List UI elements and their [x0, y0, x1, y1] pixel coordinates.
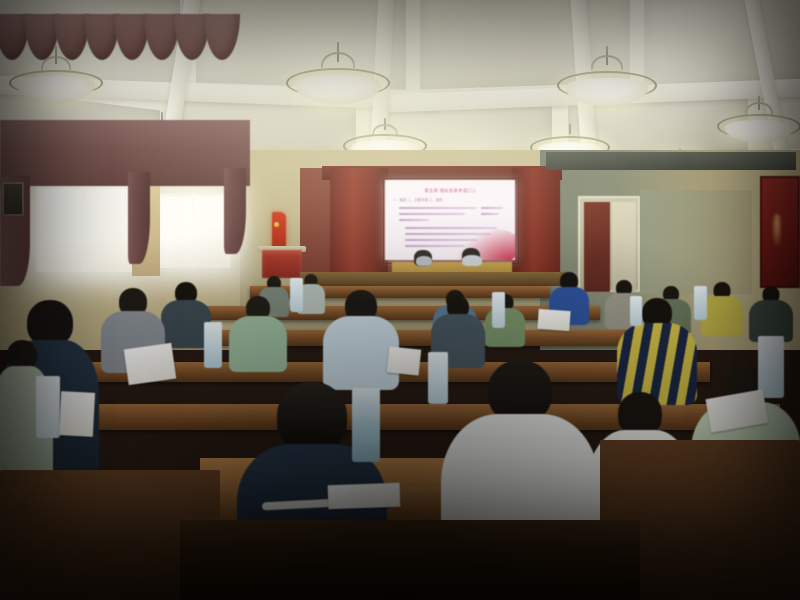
handout-3 — [387, 346, 422, 375]
attendee-centre-seated-b — [484, 294, 526, 346]
water-bottle-8 — [694, 286, 707, 320]
handout-2 — [328, 483, 401, 509]
stage-curtain-left — [330, 168, 388, 273]
attendee-mid-green — [228, 296, 288, 370]
flag-star-icon — [274, 222, 279, 227]
handout-5 — [537, 309, 570, 331]
wall-picture-frame — [2, 182, 24, 216]
water-bottle-9 — [630, 296, 642, 326]
water-bottle-1 — [352, 388, 380, 462]
handout-1 — [124, 343, 177, 385]
right-wall-header-beam — [546, 152, 796, 170]
exit-door-leaf-secondary[interactable] — [612, 202, 636, 292]
water-bottle-2 — [428, 352, 448, 404]
water-bottle-6 — [492, 292, 505, 328]
stage-apron — [300, 272, 564, 286]
conference-hall-photo: 第五章 国际贸易术语(二) 一、概述 二、主要术语 三、选用 — [0, 0, 800, 600]
window-mullion — [192, 194, 195, 268]
chinese-flag — [272, 212, 286, 250]
water-bottle-7 — [36, 376, 60, 438]
attendee-yellow-stripe — [616, 298, 698, 404]
water-bottle-4 — [204, 322, 222, 368]
curtain-drape-right — [224, 168, 246, 254]
right-wall-panel — [640, 190, 752, 294]
pendant-lamp-8 — [716, 96, 800, 150]
stage-curtain-right — [512, 168, 560, 273]
presenter-shirt-left — [416, 256, 432, 266]
pendant-lamp-6 — [556, 46, 658, 108]
handout-6 — [59, 391, 95, 437]
water-bottle-5 — [290, 278, 303, 312]
curtain-drape-mid — [128, 172, 150, 264]
screen-frame — [383, 178, 519, 264]
curtain-valance — [0, 120, 250, 186]
presenter-shirt-right — [462, 255, 482, 266]
pendant-lamp-1 — [8, 46, 104, 104]
window-mullion — [82, 186, 85, 272]
desk-row-4 — [150, 330, 650, 346]
pendant-lamp-4 — [285, 42, 391, 106]
attendee-mid-blue — [322, 290, 400, 388]
attendee-back-row-d — [748, 286, 794, 340]
bench-back-centre — [180, 520, 640, 600]
poster-figure — [772, 214, 782, 246]
